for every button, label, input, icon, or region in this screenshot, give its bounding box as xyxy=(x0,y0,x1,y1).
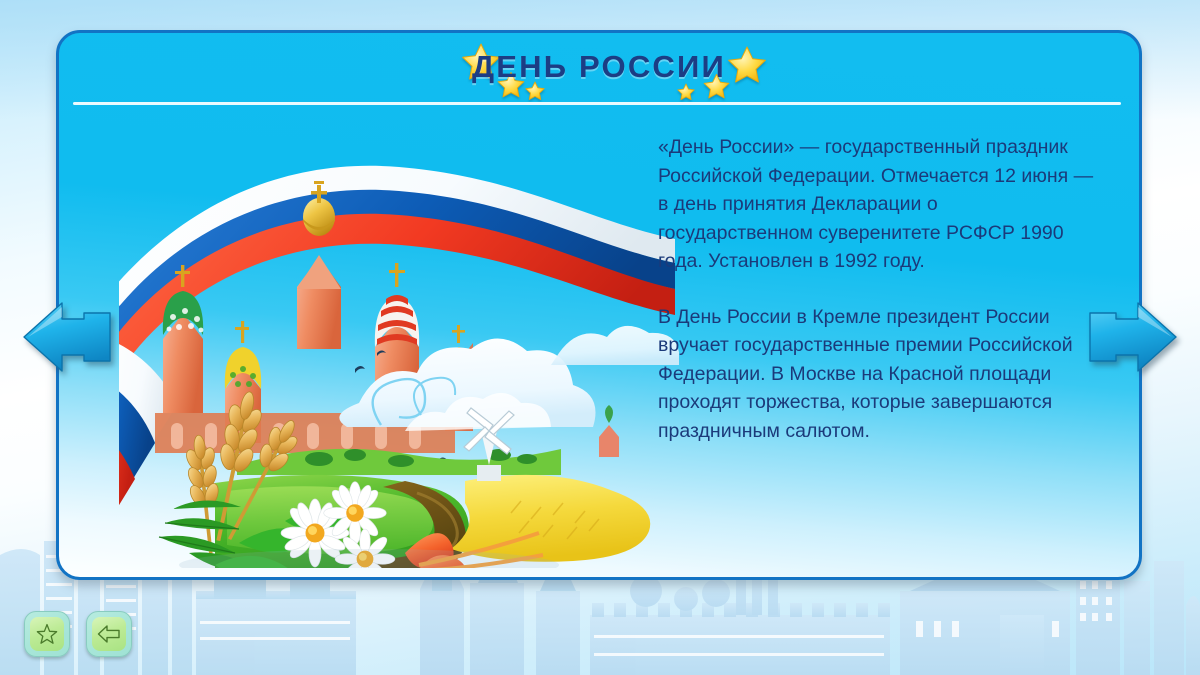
favorite-button-face xyxy=(30,617,64,651)
star-icon xyxy=(703,73,730,100)
header-divider xyxy=(73,102,1121,105)
star-outline-icon xyxy=(35,622,59,646)
slide-header: ДЕНЬ РОССИИ xyxy=(59,33,1139,105)
star-icon xyxy=(677,83,695,101)
distant-church xyxy=(599,405,619,457)
next-slide-button[interactable] xyxy=(1088,295,1178,379)
slide-card: ДЕНЬ РОССИИ xyxy=(56,30,1142,580)
back-arrow-icon xyxy=(96,622,122,646)
back-button[interactable] xyxy=(86,611,132,657)
bottom-toolbar xyxy=(24,611,132,657)
illustration-russia-collage xyxy=(119,113,679,568)
star-icon xyxy=(727,45,767,85)
favorite-button[interactable] xyxy=(24,611,70,657)
previous-slide-button[interactable] xyxy=(22,295,112,379)
back-button-face xyxy=(92,617,126,651)
slide-text-column: «День России» — государственный праздник… xyxy=(658,133,1094,445)
paragraph-celebration: В День России в Кремле президент России … xyxy=(658,303,1094,446)
page-title: ДЕНЬ РОССИИ xyxy=(59,49,1139,85)
paragraph-definition: «День России» — государственный праздник… xyxy=(658,133,1094,276)
